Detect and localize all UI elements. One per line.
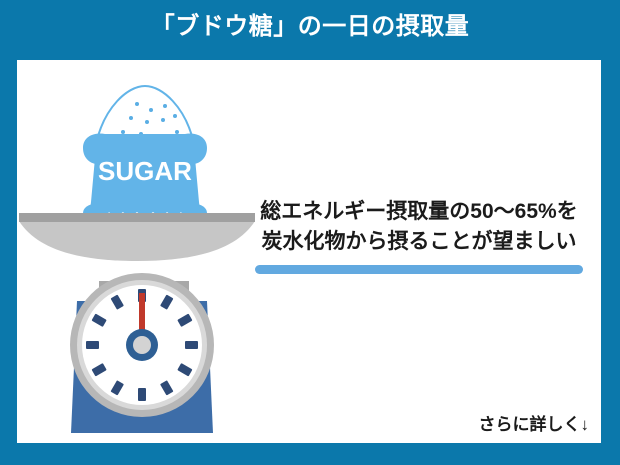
- message-underline-bar: [255, 265, 583, 274]
- message-block: 総エネルギー摂取量の50〜65%を 炭水化物から摂ることが望ましい: [244, 197, 594, 274]
- message-line-1: 総エネルギー摂取量の50〜65%を: [244, 197, 594, 227]
- more-details-link[interactable]: さらに詳しく↓: [479, 410, 590, 435]
- kitchen-scale-illustration: [17, 205, 257, 443]
- scale-tray-dish-icon: [19, 221, 255, 261]
- scale-tray-top-icon: [19, 213, 255, 222]
- sugar-bag-label: SUGAR: [98, 156, 192, 186]
- slide-root: 「ブドウ糖」の一日の摂取量: [0, 0, 620, 465]
- page-title: 「ブドウ糖」の一日の摂取量: [0, 10, 620, 44]
- content-panel: SUGAR: [17, 60, 601, 443]
- sugar-bag-illustration: SUGAR: [75, 74, 215, 224]
- message-line-2: 炭水化物から摂ることが望ましい: [244, 227, 594, 257]
